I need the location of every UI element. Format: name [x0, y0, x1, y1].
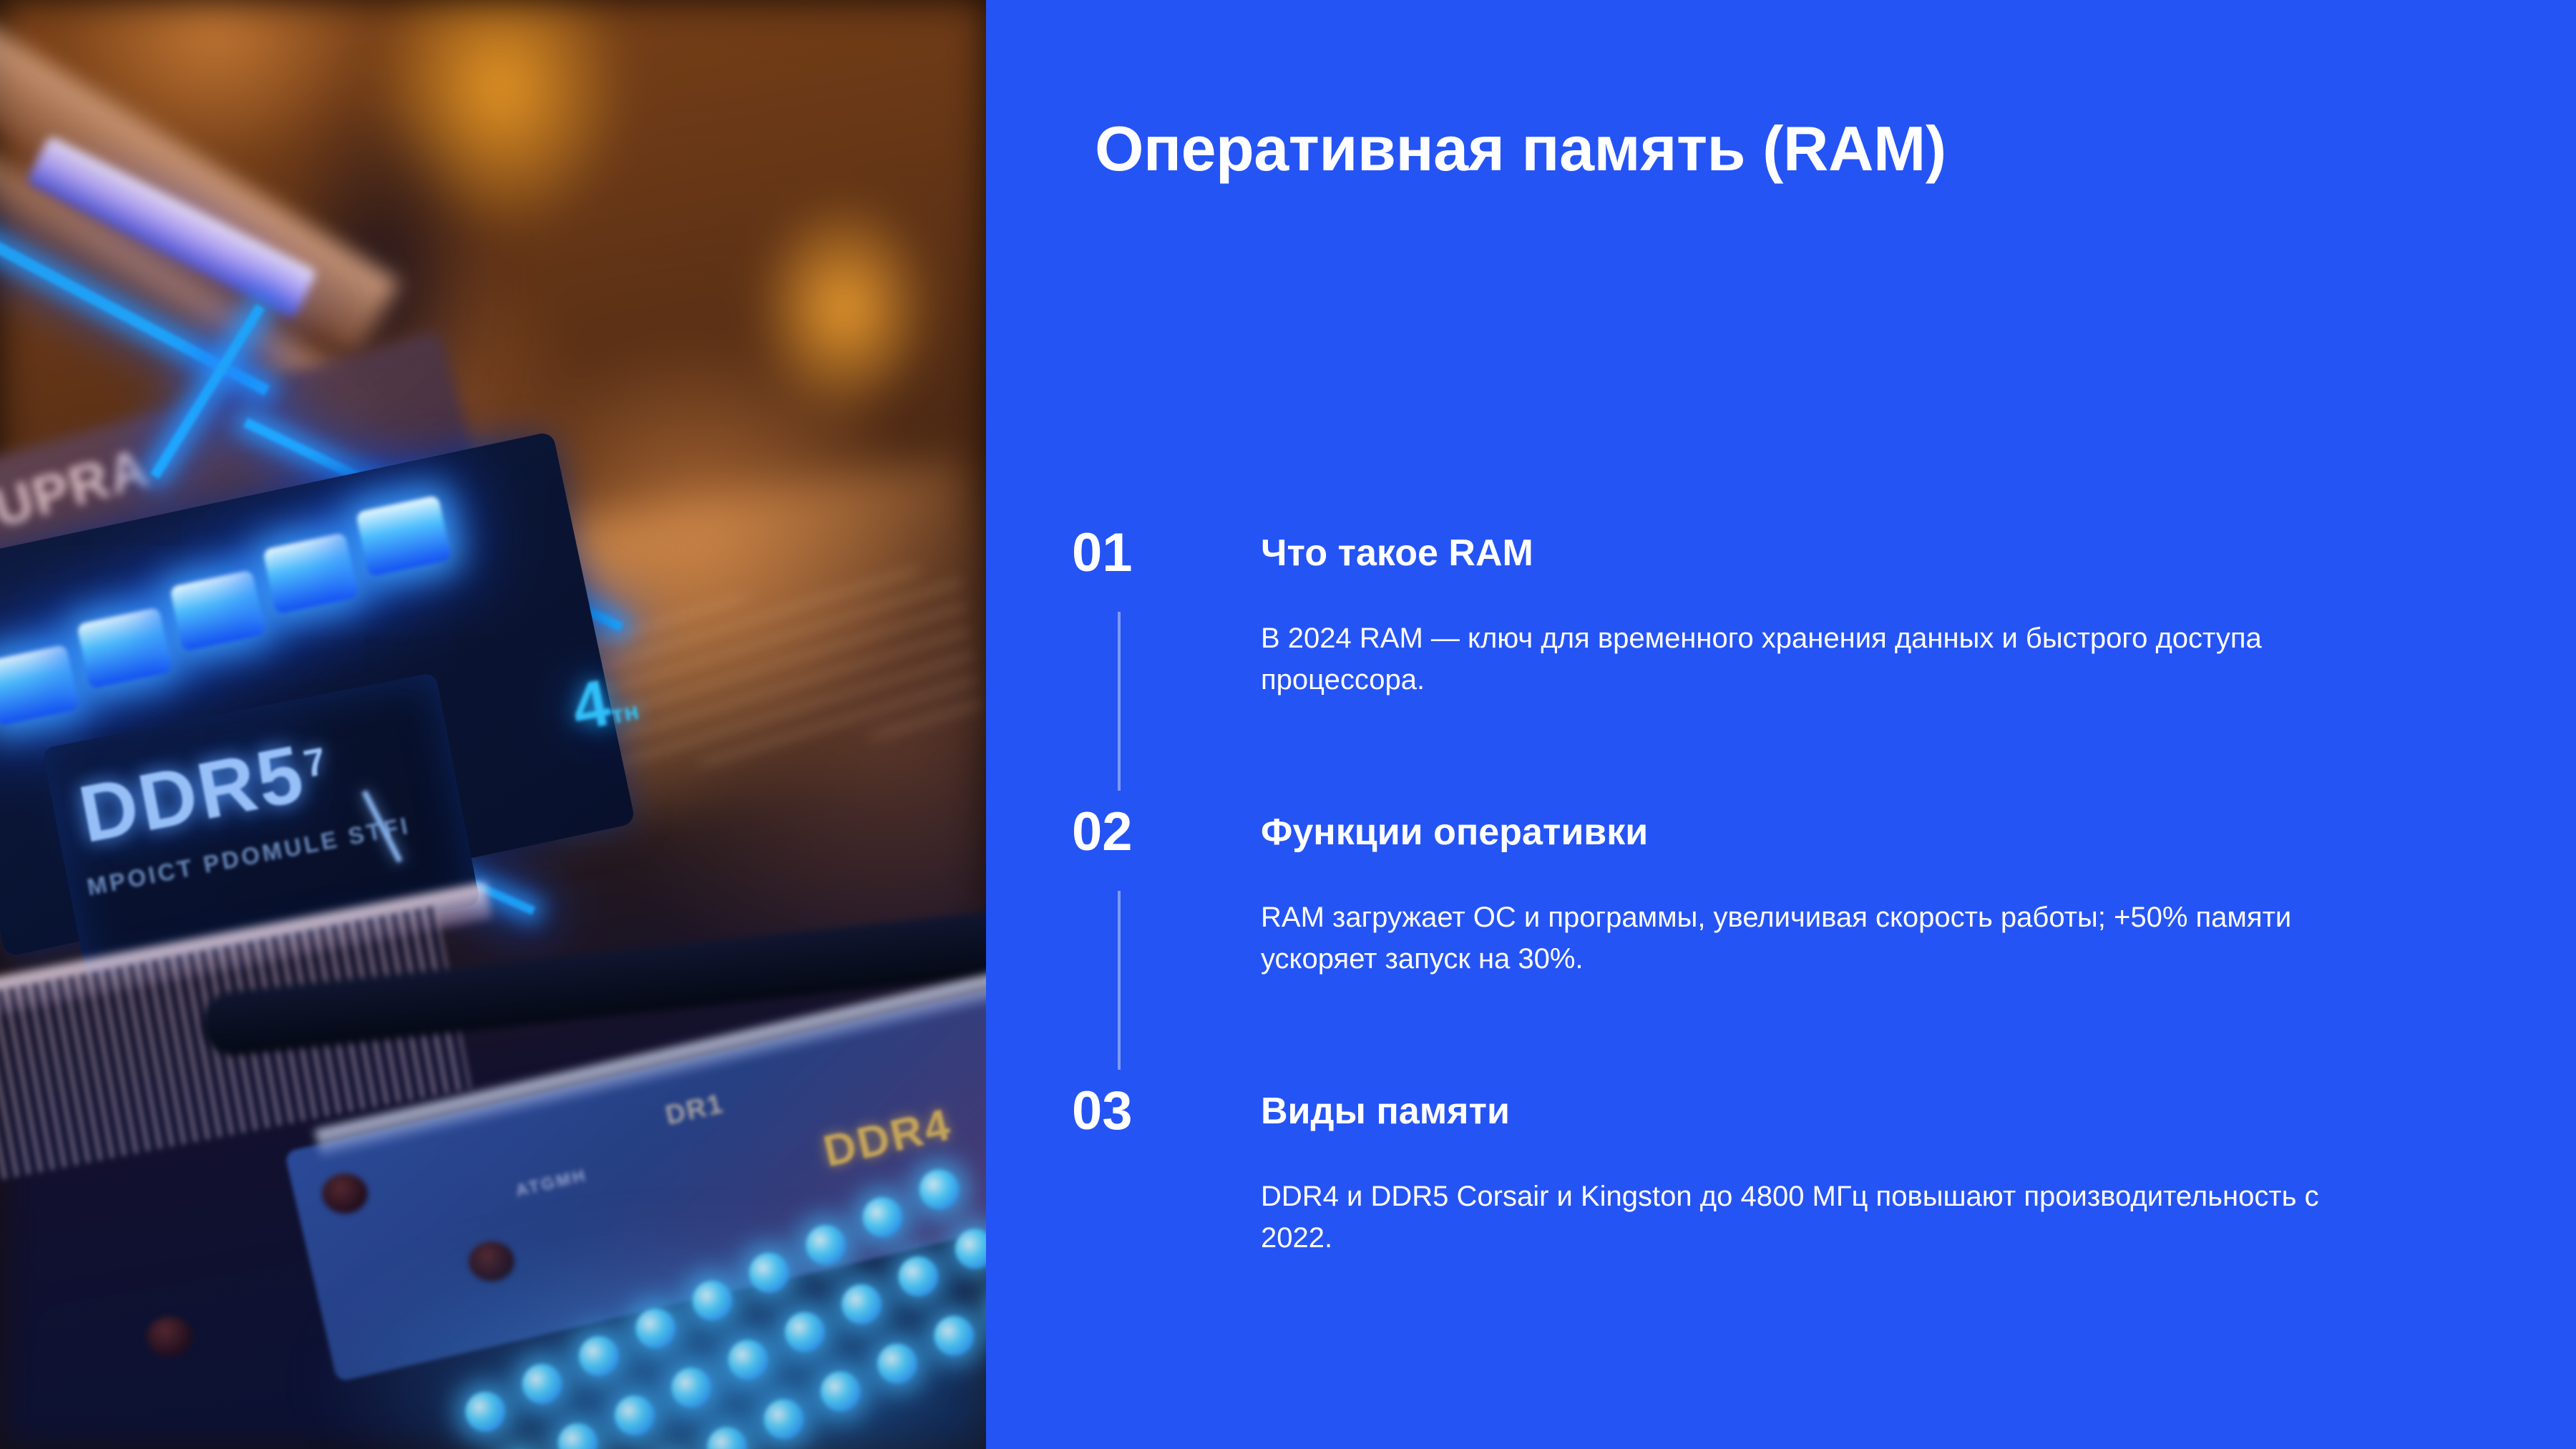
hero-photo: DUPRA DDR5 7 MPOICT PDOMULE STFI 4тн — [0, 0, 986, 1449]
list-item-heading: Что такое RAM — [1261, 533, 1533, 574]
photo-screw — [322, 1174, 368, 1214]
photo-glow-digit-sub: тн — [609, 697, 642, 729]
list-item-heading: Функции оперативки — [1261, 812, 1648, 853]
list-item-body: RAM загружает ОС и программы, увеличивая… — [1261, 897, 2320, 980]
content-panel: Оперативная память (RAM) 01 Что такое RA… — [986, 0, 2576, 1449]
list-item: 02 Функции оперативки RAM загружает ОС и… — [1072, 805, 2474, 1084]
list-item-number: 02 — [1072, 805, 1133, 859]
list-item-body: DDR4 и DDR5 Corsair и Kingston до 4800 М… — [1261, 1176, 2320, 1259]
list-item-number: 01 — [1072, 526, 1133, 580]
list-item-number: 03 — [1072, 1084, 1133, 1138]
list-item-body: В 2024 RAM — ключ для временного хранени… — [1261, 618, 2320, 701]
numbered-list: 01 Что такое RAM В 2024 RAM — ключ для в… — [1072, 526, 2474, 1363]
slide-root: DUPRA DDR5 7 MPOICT PDOMULE STFI 4тн — [0, 0, 2576, 1449]
slide-title: Оперативная память (RAM) — [1095, 112, 1946, 185]
list-item: 03 Виды памяти DDR4 и DDR5 Corsair и Kin… — [1072, 1084, 2474, 1363]
photo-screw — [147, 1317, 192, 1357]
list-item-divider — [1118, 612, 1121, 791]
list-item: 01 Что такое RAM В 2024 RAM — ключ для в… — [1072, 526, 2474, 805]
list-item-heading: Виды памяти — [1261, 1091, 1510, 1132]
list-item-divider — [1118, 891, 1121, 1070]
